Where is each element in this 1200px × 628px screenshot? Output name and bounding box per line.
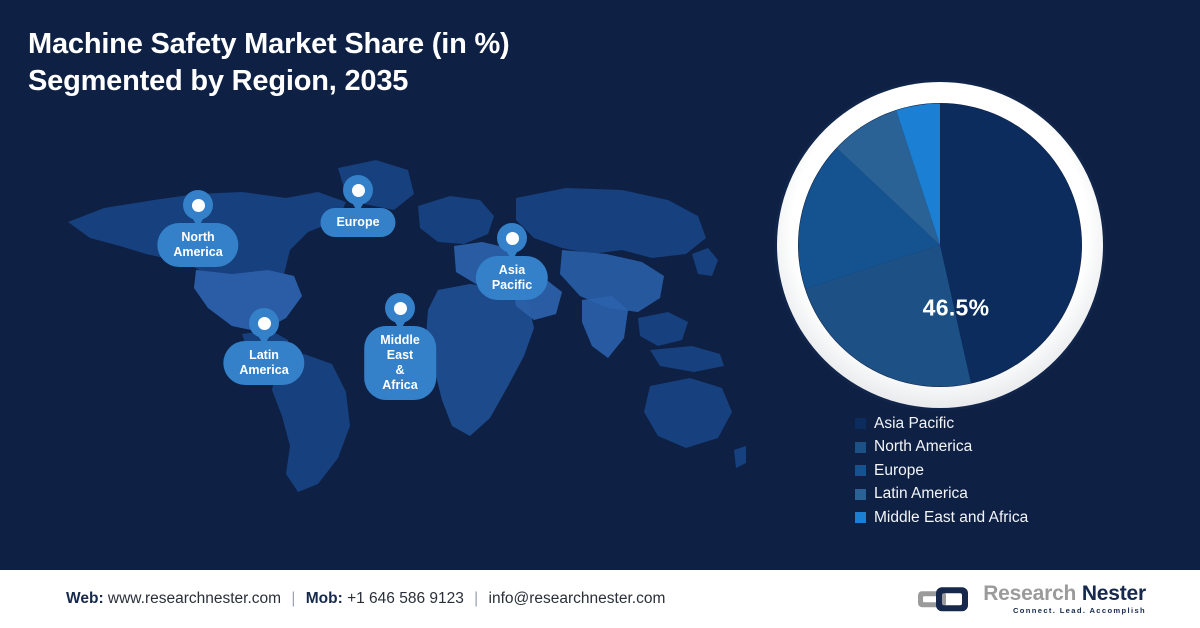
footer-email[interactable]: info@researchnester.com xyxy=(489,590,666,607)
legend-label: Asia Pacific xyxy=(874,415,954,433)
footer-separator-2: | xyxy=(474,590,478,607)
footer-mob-label: Mob: xyxy=(306,590,343,607)
legend-item-latin-america[interactable]: Latin America xyxy=(855,483,1028,507)
legend-label: Middle East and Africa xyxy=(874,509,1028,527)
chain-link-icon xyxy=(918,584,974,614)
legend-swatch-icon xyxy=(855,465,866,476)
map-pin-label: Latin America xyxy=(223,341,304,385)
footer-web-label: Web: xyxy=(66,590,104,607)
logo-word-nester: Nester xyxy=(1082,582,1146,605)
map-pin-label: Asia Pacific xyxy=(476,256,548,300)
legend-item-north-america[interactable]: North America xyxy=(855,436,1028,460)
legend-label: Latin America xyxy=(874,485,968,503)
legend-label: Europe xyxy=(874,462,924,480)
footer-web-value[interactable]: www.researchnester.com xyxy=(108,590,281,607)
infographic-canvas: Machine Safety Market Share (in %) Segme… xyxy=(0,0,1200,628)
footer-bar: Web: www.researchnester.com | Mob: +1 64… xyxy=(0,570,1200,628)
company-logo[interactable]: Research Nester Connect. Lead. Accomplis… xyxy=(918,583,1146,615)
logo-word-research: Research xyxy=(983,582,1082,605)
footer-mob-value[interactable]: +1 646 586 9123 xyxy=(347,590,464,607)
chart-legend: Asia Pacific North America Europe Latin … xyxy=(855,412,1028,530)
legend-label: North America xyxy=(874,438,972,456)
map-pin-label: Middle East & Africa xyxy=(364,326,436,400)
map-pin-label: North America xyxy=(157,223,238,267)
footer-contact-info: Web: www.researchnester.com | Mob: +1 64… xyxy=(66,590,665,608)
legend-item-europe[interactable]: Europe xyxy=(855,459,1028,483)
title-line-2: Segmented by Region, 2035 xyxy=(28,63,668,100)
legend-swatch-icon xyxy=(855,512,866,523)
pie-chart: 46.5% xyxy=(770,80,1110,415)
logo-tagline: Connect. Lead. Accomplish xyxy=(983,607,1146,615)
world-map: North America Europe Asia Pacific Latin … xyxy=(46,150,746,520)
legend-swatch-icon xyxy=(855,489,866,500)
title-line-1: Machine Safety Market Share (in %) xyxy=(28,26,668,63)
legend-item-middle-east-and-africa[interactable]: Middle East and Africa xyxy=(855,506,1028,530)
footer-separator-1: | xyxy=(291,590,295,607)
pie-slice-value-label: 46.5% xyxy=(923,295,990,322)
legend-item-asia-pacific[interactable]: Asia Pacific xyxy=(855,412,1028,436)
legend-swatch-icon xyxy=(855,442,866,453)
page-title: Machine Safety Market Share (in %) Segme… xyxy=(28,26,668,100)
pie-chart-graphic xyxy=(770,80,1110,415)
map-pin-label: Europe xyxy=(320,208,395,237)
legend-swatch-icon xyxy=(855,418,866,429)
